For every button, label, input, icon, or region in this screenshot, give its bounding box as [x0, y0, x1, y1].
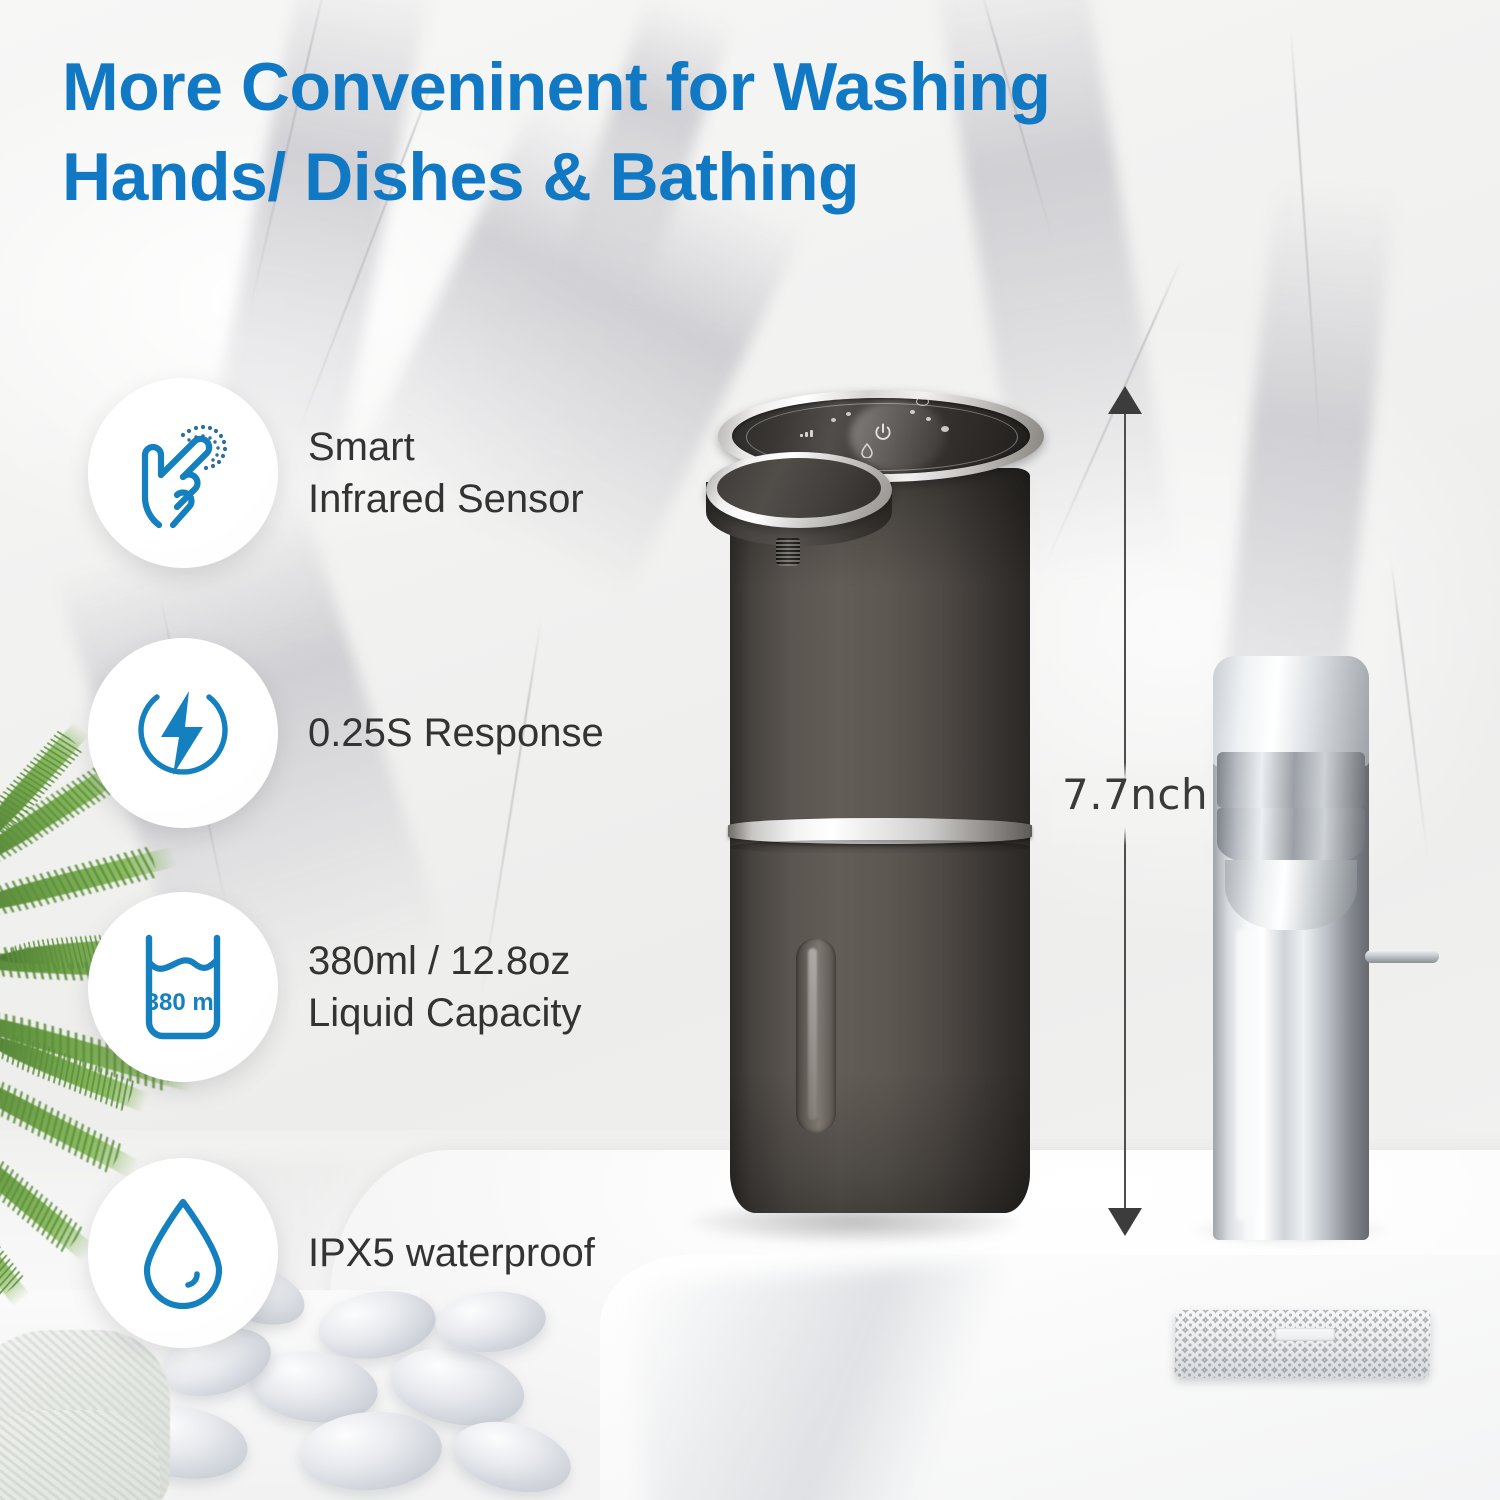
- liquid-level-window-highlight: [808, 948, 817, 1120]
- volume-level-icon: [800, 426, 822, 440]
- water-droplet-icon: [127, 1194, 239, 1312]
- page-title: More Conveninent for Washing Hands/ Dish…: [62, 42, 1422, 223]
- badge-circle: [88, 378, 278, 568]
- faucet-highlight: [1237, 930, 1257, 1220]
- feature-label-response-time: 0.25S Response: [308, 707, 604, 759]
- dimension-label: 7.7nch: [1062, 770, 1208, 819]
- badge-circle: 380 ml: [88, 892, 278, 1082]
- product-feature-graphic: More Conveninent for Washing Hands/ Dish…: [0, 0, 1500, 1500]
- chrome-ring-shadow: [730, 840, 1030, 854]
- feature-item-smart-infrared-sensor: Smart Infrared Sensor: [88, 378, 584, 568]
- lightning-bolt-icon: [127, 677, 239, 789]
- faucet-lever-handle[interactable]: [1365, 950, 1439, 963]
- headline-line-1: More Conveninent for Washing: [62, 42, 1422, 132]
- dispenser-spout-face: [717, 458, 881, 518]
- feature-item-response-time: 0.25S Response: [88, 638, 604, 828]
- headline-line-2: Hands/ Dishes & Bathing: [62, 132, 1422, 222]
- faucet-neck: [1225, 860, 1357, 930]
- beaker-volume-text: 380 ml: [146, 989, 221, 1016]
- basin-crease-highlight: [632, 1255, 1078, 1500]
- faucet-head: [1213, 656, 1369, 766]
- feature-label-smart-infrared-sensor: Smart Infrared Sensor: [308, 421, 584, 525]
- dispenser-nozzle: [776, 538, 800, 566]
- beaker-capacity-icon: 380 ml: [123, 926, 243, 1048]
- feature-label-liquid-capacity: 380ml / 12.8oz Liquid Capacity: [308, 935, 582, 1039]
- dispenser-body-bottom-shading: [730, 1070, 1030, 1213]
- top-panel-gloss: [850, 400, 945, 472]
- chrome-faucet: [1195, 640, 1445, 1260]
- drain-cover-slot: [1275, 1328, 1335, 1341]
- faucet-chrome-band: [1217, 752, 1365, 808]
- hand-infrared-sensor-icon: [123, 413, 243, 533]
- folded-towel-second: [0, 1410, 160, 1500]
- automatic-soap-dispenser: [700, 370, 1070, 1240]
- arrow-down-icon: [1108, 1208, 1142, 1236]
- arrow-up-icon: [1108, 386, 1142, 414]
- feature-item-liquid-capacity: 380 ml 380ml / 12.8oz Liquid Capacity: [88, 892, 582, 1082]
- indicator-led: [846, 412, 851, 416]
- badge-circle: [88, 638, 278, 828]
- feature-item-waterproof: IPX5 waterproof: [88, 1158, 595, 1348]
- indicator-led: [831, 418, 836, 422]
- perforated-drain-cover: [1174, 1310, 1430, 1378]
- faucet-chrome-band: [1217, 808, 1365, 864]
- feature-label-waterproof: IPX5 waterproof: [308, 1227, 595, 1279]
- badge-circle: [88, 1158, 278, 1348]
